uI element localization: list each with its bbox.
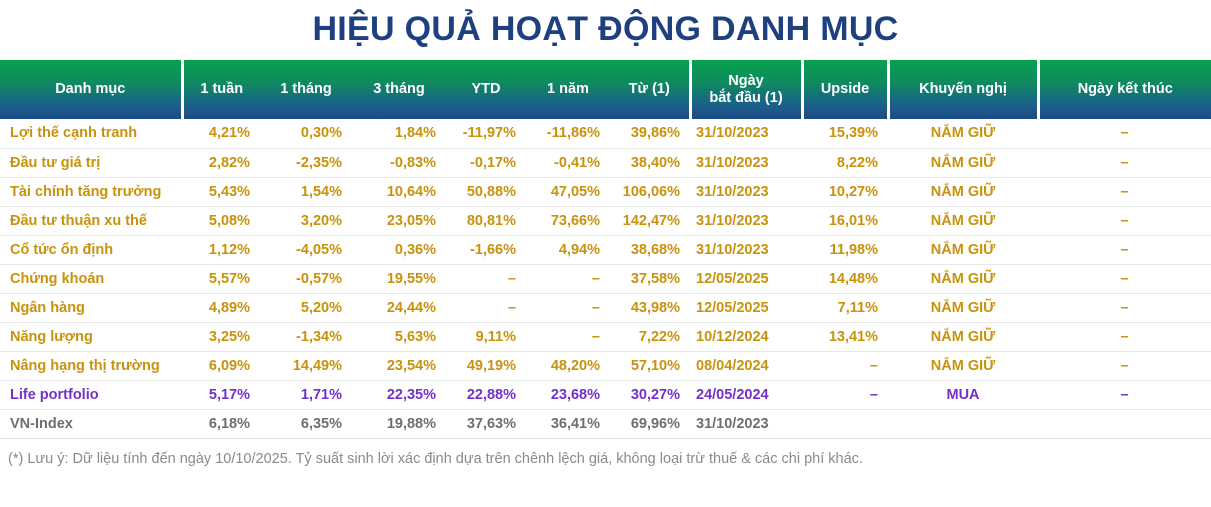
table-body: Lợi thế cạnh tranh4,21%0,30%1,84%-11,97%… <box>0 119 1211 438</box>
cell-1-thang: -2,35% <box>260 148 352 177</box>
cell-1-tuan: 6,18% <box>182 409 260 438</box>
cell-3-thang: 19,88% <box>352 409 446 438</box>
cell-tu: 69,96% <box>610 409 690 438</box>
cell-3-thang: 0,36% <box>352 235 446 264</box>
cell-1-tuan: 5,17% <box>182 380 260 409</box>
cell-ngay-bat-dau: 08/04/2024 <box>690 351 802 380</box>
cell-upside: – <box>802 351 888 380</box>
column-header-khuyen-nghi[interactable]: Khuyến nghị <box>888 60 1038 119</box>
cell-1-tuan: 2,82% <box>182 148 260 177</box>
column-header-ngay-bat-dau-line2: bắt đầu (1) <box>709 90 782 106</box>
cell-tu: 38,68% <box>610 235 690 264</box>
table-row[interactable]: Đầu tư thuận xu thế5,08%3,20%23,05%80,81… <box>0 206 1211 235</box>
table-row[interactable]: VN-Index6,18%6,35%19,88%37,63%36,41%69,9… <box>0 409 1211 438</box>
table-row[interactable]: Năng lượng3,25%-1,34%5,63%9,11%–7,22%10/… <box>0 322 1211 351</box>
cell-1-thang: 1,71% <box>260 380 352 409</box>
column-header-1-nam[interactable]: 1 năm <box>526 60 610 119</box>
cell-1-thang: 3,20% <box>260 206 352 235</box>
cell-ngay-ket-thuc: – <box>1038 148 1211 177</box>
cell-khuyen-nghi: NẮM GIỮ <box>888 119 1038 148</box>
cell-khuyen-nghi: NẮM GIỮ <box>888 235 1038 264</box>
cell-upside: 15,39% <box>802 119 888 148</box>
cell-1-thang: 1,54% <box>260 177 352 206</box>
cell-upside: 16,01% <box>802 206 888 235</box>
column-header-ngay-bat-dau[interactable]: Ngày bắt đầu (1) <box>690 60 802 119</box>
cell-1-thang: 6,35% <box>260 409 352 438</box>
cell-1-tuan: 5,43% <box>182 177 260 206</box>
cell-ytd: – <box>446 264 526 293</box>
cell-3-thang: 23,05% <box>352 206 446 235</box>
cell-khuyen-nghi: NẮM GIỮ <box>888 206 1038 235</box>
column-header-danh-muc[interactable]: Danh mục <box>0 60 182 119</box>
table-row[interactable]: Cổ tức ổn định1,12%-4,05%0,36%-1,66%4,94… <box>0 235 1211 264</box>
cell-3-thang: -0,83% <box>352 148 446 177</box>
cell-danh-muc: Chứng khoán <box>0 264 182 293</box>
cell-tu: 43,98% <box>610 293 690 322</box>
cell-1-thang: -4,05% <box>260 235 352 264</box>
cell-1-nam: 4,94% <box>526 235 610 264</box>
cell-upside: 10,27% <box>802 177 888 206</box>
cell-danh-muc: Ngân hàng <box>0 293 182 322</box>
cell-tu: 39,86% <box>610 119 690 148</box>
table-footnote: (*) Lưu ý: Dữ liệu tính đến ngày 10/10/2… <box>0 439 1211 468</box>
cell-1-tuan: 3,25% <box>182 322 260 351</box>
cell-ngay-bat-dau: 12/05/2025 <box>690 264 802 293</box>
column-header-tu[interactable]: Từ (1) <box>610 60 690 119</box>
cell-ytd: -0,17% <box>446 148 526 177</box>
table-row[interactable]: Ngân hàng4,89%5,20%24,44%––43,98%12/05/2… <box>0 293 1211 322</box>
cell-khuyen-nghi: NẮM GIỮ <box>888 351 1038 380</box>
cell-1-thang: -1,34% <box>260 322 352 351</box>
cell-1-thang: 14,49% <box>260 351 352 380</box>
cell-khuyen-nghi: NẮM GIỮ <box>888 322 1038 351</box>
cell-ngay-bat-dau: 31/10/2023 <box>690 177 802 206</box>
portfolio-performance-table: Danh mục 1 tuần 1 tháng 3 tháng YTD 1 nă… <box>0 60 1211 439</box>
cell-ytd: 80,81% <box>446 206 526 235</box>
table-row[interactable]: Life portfolio5,17%1,71%22,35%22,88%23,6… <box>0 380 1211 409</box>
cell-danh-muc: Life portfolio <box>0 380 182 409</box>
cell-1-tuan: 6,09% <box>182 351 260 380</box>
table-header: Danh mục 1 tuần 1 tháng 3 tháng YTD 1 nă… <box>0 60 1211 119</box>
cell-ytd: 9,11% <box>446 322 526 351</box>
cell-khuyen-nghi: NẮM GIỮ <box>888 177 1038 206</box>
column-header-3-thang[interactable]: 3 tháng <box>352 60 446 119</box>
cell-ngay-bat-dau: 12/05/2025 <box>690 293 802 322</box>
cell-ytd: – <box>446 293 526 322</box>
cell-3-thang: 5,63% <box>352 322 446 351</box>
cell-ngay-ket-thuc: – <box>1038 206 1211 235</box>
table-row[interactable]: Lợi thế cạnh tranh4,21%0,30%1,84%-11,97%… <box>0 119 1211 148</box>
cell-danh-muc: VN-Index <box>0 409 182 438</box>
column-header-upside[interactable]: Upside <box>802 60 888 119</box>
cell-ngay-ket-thuc: – <box>1038 119 1211 148</box>
cell-ytd: 50,88% <box>446 177 526 206</box>
page-title: HIỆU QUẢ HOẠT ĐỘNG DANH MỤC <box>0 0 1211 60</box>
cell-3-thang: 1,84% <box>352 119 446 148</box>
column-header-1-tuan[interactable]: 1 tuần <box>182 60 260 119</box>
cell-danh-muc: Nâng hạng thị trường <box>0 351 182 380</box>
cell-3-thang: 24,44% <box>352 293 446 322</box>
cell-1-nam: 47,05% <box>526 177 610 206</box>
cell-danh-muc: Cổ tức ổn định <box>0 235 182 264</box>
column-header-ngay-ket-thuc[interactable]: Ngày kết thúc <box>1038 60 1211 119</box>
cell-ytd: -11,97% <box>446 119 526 148</box>
table-row[interactable]: Tài chính tăng trưởng5,43%1,54%10,64%50,… <box>0 177 1211 206</box>
cell-upside: 13,41% <box>802 322 888 351</box>
cell-1-nam: – <box>526 264 610 293</box>
cell-ytd: 22,88% <box>446 380 526 409</box>
cell-tu: 7,22% <box>610 322 690 351</box>
cell-ngay-ket-thuc: – <box>1038 177 1211 206</box>
cell-ngay-bat-dau: 10/12/2024 <box>690 322 802 351</box>
cell-1-tuan: 5,08% <box>182 206 260 235</box>
cell-tu: 57,10% <box>610 351 690 380</box>
column-header-ngay-bat-dau-line1: Ngày <box>728 73 763 89</box>
cell-ngay-ket-thuc: – <box>1038 293 1211 322</box>
cell-1-nam: 23,68% <box>526 380 610 409</box>
cell-1-tuan: 1,12% <box>182 235 260 264</box>
cell-tu: 37,58% <box>610 264 690 293</box>
column-header-1-thang[interactable]: 1 tháng <box>260 60 352 119</box>
cell-upside <box>802 409 888 438</box>
cell-danh-muc: Đầu tư thuận xu thế <box>0 206 182 235</box>
cell-khuyen-nghi: MUA <box>888 380 1038 409</box>
cell-ngay-ket-thuc: – <box>1038 264 1211 293</box>
cell-1-tuan: 4,21% <box>182 119 260 148</box>
cell-1-nam: 36,41% <box>526 409 610 438</box>
cell-upside: 11,98% <box>802 235 888 264</box>
cell-ngay-bat-dau: 31/10/2023 <box>690 148 802 177</box>
column-header-ytd[interactable]: YTD <box>446 60 526 119</box>
cell-khuyen-nghi: NẮM GIỮ <box>888 264 1038 293</box>
cell-1-thang: 5,20% <box>260 293 352 322</box>
cell-upside: 14,48% <box>802 264 888 293</box>
cell-khuyen-nghi: NẮM GIỮ <box>888 293 1038 322</box>
cell-3-thang: 22,35% <box>352 380 446 409</box>
cell-tu: 142,47% <box>610 206 690 235</box>
cell-tu: 38,40% <box>610 148 690 177</box>
cell-upside: – <box>802 380 888 409</box>
cell-ngay-ket-thuc: – <box>1038 351 1211 380</box>
cell-ngay-bat-dau: 31/10/2023 <box>690 235 802 264</box>
cell-ngay-ket-thuc <box>1038 409 1211 438</box>
table-row[interactable]: Nâng hạng thị trường6,09%14,49%23,54%49,… <box>0 351 1211 380</box>
cell-1-nam: -11,86% <box>526 119 610 148</box>
cell-upside: 8,22% <box>802 148 888 177</box>
cell-khuyen-nghi: NẮM GIỮ <box>888 148 1038 177</box>
cell-ngay-bat-dau: 31/10/2023 <box>690 119 802 148</box>
table-row[interactable]: Đầu tư giá trị2,82%-2,35%-0,83%-0,17%-0,… <box>0 148 1211 177</box>
cell-danh-muc: Đầu tư giá trị <box>0 148 182 177</box>
cell-upside: 7,11% <box>802 293 888 322</box>
cell-3-thang: 10,64% <box>352 177 446 206</box>
cell-1-tuan: 5,57% <box>182 264 260 293</box>
cell-1-nam: 73,66% <box>526 206 610 235</box>
cell-1-nam: -0,41% <box>526 148 610 177</box>
cell-danh-muc: Lợi thế cạnh tranh <box>0 119 182 148</box>
cell-ngay-bat-dau: 31/10/2023 <box>690 206 802 235</box>
portfolio-performance-page: HIỆU QUẢ HOẠT ĐỘNG DANH MỤC Danh mục 1 t… <box>0 0 1211 507</box>
cell-ytd: 49,19% <box>446 351 526 380</box>
cell-1-thang: -0,57% <box>260 264 352 293</box>
cell-ngay-bat-dau: 24/05/2024 <box>690 380 802 409</box>
cell-ngay-ket-thuc: – <box>1038 322 1211 351</box>
cell-tu: 30,27% <box>610 380 690 409</box>
cell-1-nam: – <box>526 322 610 351</box>
cell-ytd: 37,63% <box>446 409 526 438</box>
cell-tu: 106,06% <box>610 177 690 206</box>
cell-3-thang: 19,55% <box>352 264 446 293</box>
cell-ngay-bat-dau: 31/10/2023 <box>690 409 802 438</box>
cell-1-thang: 0,30% <box>260 119 352 148</box>
cell-ngay-ket-thuc: – <box>1038 235 1211 264</box>
cell-danh-muc: Năng lượng <box>0 322 182 351</box>
table-row[interactable]: Chứng khoán5,57%-0,57%19,55%––37,58%12/0… <box>0 264 1211 293</box>
cell-khuyen-nghi <box>888 409 1038 438</box>
table-header-row: Danh mục 1 tuần 1 tháng 3 tháng YTD 1 nă… <box>0 60 1211 119</box>
cell-ytd: -1,66% <box>446 235 526 264</box>
cell-1-tuan: 4,89% <box>182 293 260 322</box>
cell-3-thang: 23,54% <box>352 351 446 380</box>
cell-ngay-ket-thuc: – <box>1038 380 1211 409</box>
cell-1-nam: – <box>526 293 610 322</box>
cell-1-nam: 48,20% <box>526 351 610 380</box>
cell-danh-muc: Tài chính tăng trưởng <box>0 177 182 206</box>
